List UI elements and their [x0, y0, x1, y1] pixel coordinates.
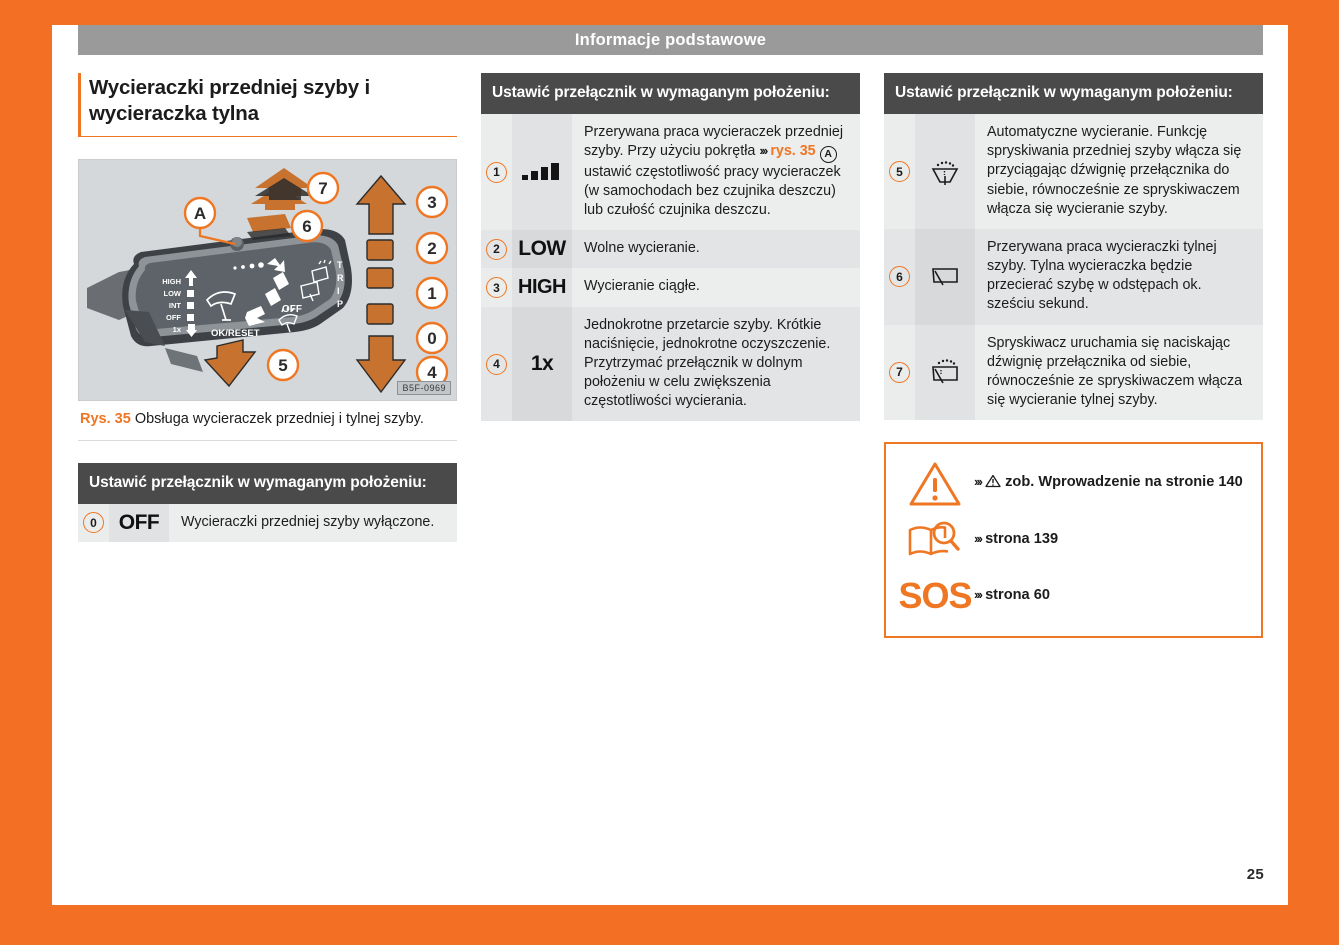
row-symbol-cell: LOW	[512, 230, 572, 268]
svg-text:R: R	[337, 273, 344, 283]
chevrons-icon: ›››	[974, 531, 981, 546]
reference-text: ››› strona 139	[974, 530, 1247, 549]
figure-code: B5F-0969	[397, 381, 451, 395]
table-header-middle: Ustawić przełącznik w wymaganym położeni…	[481, 73, 860, 114]
row-symbol-cell: 1x	[512, 307, 572, 422]
warning-triangle-inline-icon	[985, 474, 1001, 494]
svg-text:3: 3	[427, 193, 436, 212]
svg-text:INT: INT	[169, 301, 182, 310]
row-text-cell: Automatyczne wycieranie. Funkcję spryski…	[975, 114, 1263, 229]
svg-text:OFF: OFF	[282, 304, 302, 315]
row-text-cell: Spryskiwacz uruchamia się naciskając dźw…	[975, 325, 1263, 421]
svg-text:OK/RESET: OK/RESET	[211, 328, 260, 339]
callout-badge: 3	[486, 277, 507, 298]
svg-text:7: 7	[318, 179, 327, 198]
reference-text: ››› zob. Wprowadzenie na stronie 140	[974, 473, 1247, 494]
callout-badge: 0	[83, 512, 104, 533]
svg-text:A: A	[194, 204, 206, 223]
table-row: 4 1x Jednokrotne przetarcie szyby. Krótk…	[481, 307, 860, 422]
reference-label[interactable]: strona 60	[985, 587, 1050, 603]
svg-text:T: T	[337, 260, 343, 270]
warning-triangle-icon	[896, 460, 974, 508]
figure-wiper-stalk: HIGH LOW INT OFF 1x	[78, 159, 457, 401]
row-text-cell: Wycieraczki przedniej szyby wyłączone.	[169, 504, 457, 542]
row-text-after: ustawić częstotliwość pracy wycieraczek …	[584, 164, 841, 218]
svg-text:0: 0	[427, 329, 436, 348]
sos-icon: SOS	[896, 578, 974, 614]
svg-text:1x: 1x	[173, 325, 182, 334]
row-number-cell: 4	[481, 307, 512, 422]
row-text-cell: Przerywana praca wycieraczek przedniej s…	[572, 114, 860, 230]
callout-badge: 2	[486, 239, 507, 260]
column-left: Wycieraczki przedniej szyby i wycieraczk…	[78, 73, 457, 542]
bars-icon	[522, 162, 562, 182]
table-row: 2 LOW Wolne wycieranie.	[481, 230, 860, 268]
callout-badge: 1	[486, 162, 507, 183]
column-middle: Ustawić przełącznik w wymaganym położeni…	[481, 73, 860, 421]
table-row: 0 OFF Wycieraczki przedniej szyby wyłącz…	[78, 504, 457, 542]
content-columns: Wycieraczki przedniej szyby i wycieraczk…	[78, 73, 1263, 638]
cross-reference[interactable]: rys. 35	[770, 143, 815, 159]
reference-row: ››› strona 139	[896, 512, 1247, 568]
reference-box: ››› zob. Wprowadzenie na stronie 140	[884, 442, 1263, 638]
row-number-cell: 7	[884, 325, 915, 421]
high-symbol: HIGH	[518, 276, 566, 299]
row-number-cell: 1	[481, 114, 512, 230]
reference-label[interactable]: zob. Wprowadzenie na stronie 140	[1005, 474, 1243, 490]
figure-caption-text: Obsługa wycieraczek przedniej i tylnej s…	[135, 411, 424, 427]
wiper-stalk-illustration: HIGH LOW INT OFF 1x	[79, 160, 457, 400]
chevrons-icon: ›››	[974, 474, 981, 489]
row-symbol-cell: HIGH	[512, 268, 572, 306]
callout-badge: 4	[486, 354, 507, 375]
reference-row: ››› zob. Wprowadzenie na stronie 140	[896, 456, 1247, 512]
table-header-left: Ustawić przełącznik w wymaganym położeni…	[78, 463, 457, 504]
row-text-cell: Przerywana praca wycieraczki tylnej szyb…	[975, 229, 1263, 325]
sos-label: SOS	[898, 578, 971, 614]
table-row: 1 Przerywana praca wycieraczek przedniej…	[481, 114, 860, 230]
table-row: 7 Spr	[884, 325, 1263, 421]
chevrons-icon: ›››	[759, 143, 766, 158]
table-switch-positions-middle: Ustawić przełącznik w wymaganym położeni…	[481, 73, 860, 421]
table-row: 3 HIGH Wycieranie ciągłe.	[481, 268, 860, 306]
book-magnifier-icon	[896, 518, 974, 562]
row-number-cell: 6	[884, 229, 915, 325]
front-washer-icon	[928, 157, 962, 187]
table-switch-positions-right: Ustawić przełącznik w wymaganym położeni…	[884, 73, 1263, 420]
svg-text:2: 2	[427, 239, 436, 258]
one-x-symbol: 1x	[531, 352, 553, 376]
table-row: 6 Przerywana praca wycieraczki tylnej sz…	[884, 229, 1263, 325]
figure-caption: Rys. 35 Obsługa wycieraczek przedniej i …	[78, 401, 457, 440]
callout-badge: 7	[889, 362, 910, 383]
row-symbol-cell	[915, 325, 975, 421]
running-header: Informacje podstawowe	[78, 25, 1263, 55]
off-symbol: OFF	[119, 511, 160, 535]
reference-label[interactable]: strona 139	[985, 531, 1058, 547]
svg-text:6: 6	[302, 217, 311, 236]
reference-text: ››› strona 60	[974, 586, 1247, 605]
table-switch-positions-left: Ustawić przełącznik w wymaganym położeni…	[78, 463, 457, 542]
page-sheet: Informacje podstawowe Wycieraczki przedn…	[52, 25, 1288, 905]
chevrons-icon: ›››	[974, 587, 981, 602]
svg-text:1: 1	[427, 284, 436, 303]
rear-wiper-icon	[928, 263, 962, 291]
figure-caption-ref: Rys. 35	[80, 411, 131, 427]
row-number-cell: 3	[481, 268, 512, 306]
row-text-cell: Wolne wycieranie.	[572, 230, 860, 268]
page-number: 25	[1247, 866, 1264, 883]
callout-badge: 6	[889, 266, 910, 287]
row-text-cell: Jednokrotne przetarcie szyby. Krótkie na…	[572, 307, 860, 422]
running-header-title: Informacje podstawowe	[575, 31, 766, 50]
table-header-right: Ustawić przełącznik w wymaganym położeni…	[884, 73, 1263, 114]
rear-washer-icon	[928, 356, 962, 388]
page-title: Wycieraczki przedniej szyby i wycieraczk…	[78, 73, 457, 137]
svg-text:P: P	[337, 299, 343, 309]
table-row: 5 Aut	[884, 114, 1263, 229]
column-right: Ustawić przełącznik w wymaganym położeni…	[884, 73, 1263, 638]
low-symbol: LOW	[518, 237, 565, 261]
row-number-cell: 2	[481, 230, 512, 268]
row-number-cell: 0	[78, 504, 109, 542]
reference-row: SOS ››› strona 60	[896, 568, 1247, 624]
row-symbol-cell: OFF	[109, 504, 169, 542]
svg-text:HIGH: HIGH	[162, 277, 181, 286]
svg-text:5: 5	[278, 356, 287, 375]
svg-text:OFF: OFF	[166, 313, 181, 322]
row-text-cell: Wycieranie ciągłe.	[572, 268, 860, 306]
row-symbol-cell	[512, 114, 572, 230]
svg-text:LOW: LOW	[164, 289, 182, 298]
svg-text:4: 4	[427, 363, 437, 382]
row-number-cell: 5	[884, 114, 915, 229]
row-symbol-cell	[915, 229, 975, 325]
svg-text:I: I	[337, 286, 340, 296]
callout-badge-inline: A	[820, 146, 837, 163]
callout-badge: 5	[889, 161, 910, 182]
row-symbol-cell	[915, 114, 975, 229]
